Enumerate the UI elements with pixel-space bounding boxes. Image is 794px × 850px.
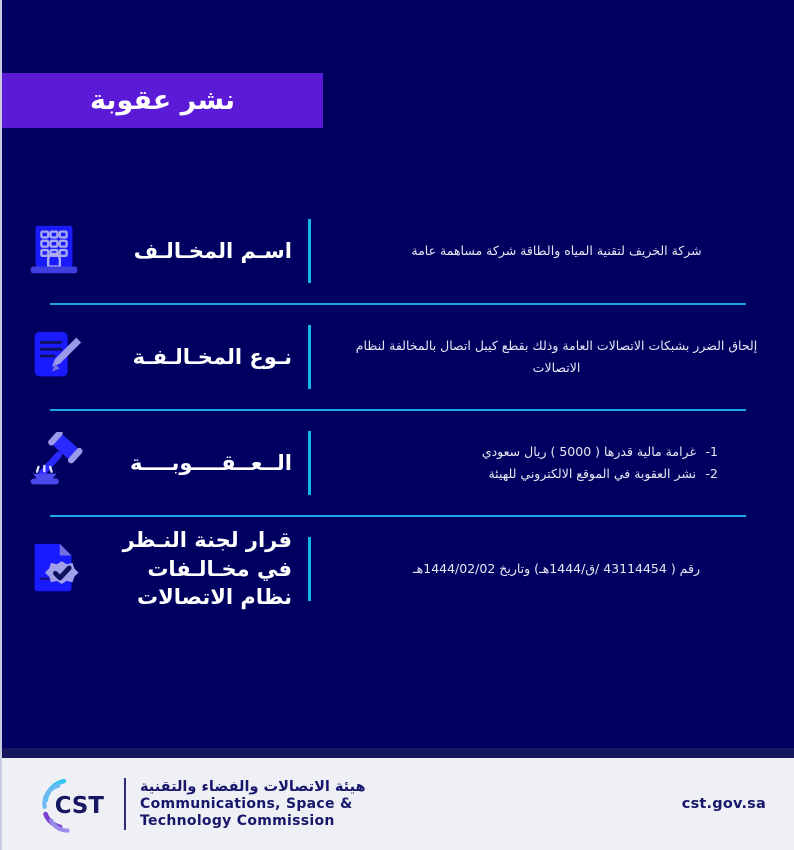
list-item: 1-غرامة مالية قدرها ( 5000 ) ريال سعودي (337, 441, 718, 464)
list-item-text: غرامة مالية قدرها ( 5000 ) ريال سعودي (482, 444, 696, 459)
footer-org-english-line2: Technology Commission (140, 813, 366, 829)
row-label-violator-name: اسـم المخـالـف (106, 237, 296, 265)
row-penalty: الــعــقــــوبــــة 1-غرامة مالية قدرها … (2, 417, 794, 509)
row-value-penalty: 1-غرامة مالية قدرها ( 5000 ) ريال سعودي … (319, 441, 794, 486)
list-item: 2-نشر العقوبة في الموقع الالكتروني للهيئ… (337, 463, 718, 486)
row-violator-name: اسـم المخـالـف شركة الخريف لتقنية المياه… (2, 205, 794, 297)
footer-top-band (2, 748, 794, 758)
list-item-number: 1- (696, 441, 718, 464)
row-divider-bar (308, 219, 311, 283)
section-divider-2 (50, 409, 746, 411)
row-violation-type: نـوع المخـالـفـة إلحاق الضرر بشبكات الات… (2, 311, 794, 403)
row-label-committee-decision: قرار لجنة النـظر في مخـالـفات نظام الاتص… (106, 526, 296, 611)
footer-branding: CST هيئة الاتصالات والفضاء والتقنية Comm… (36, 772, 366, 836)
gavel-icon (2, 432, 106, 494)
cst-logo-icon: CST (36, 772, 110, 836)
row-divider-bar (308, 431, 311, 495)
gavel-icon-svg (23, 432, 85, 494)
footer: CST هيئة الاتصالات والفضاء والتقنية Comm… (2, 758, 794, 850)
document-pen-icon-svg (23, 326, 85, 388)
content-rows: اسـم المخـالـف شركة الخريف لتقنية المياه… (2, 205, 794, 615)
row-value-committee-decision: رقم ( 43114454 /ق/1444هـ) وتاريخ 1444/02… (319, 558, 794, 580)
row-divider-bar (308, 325, 311, 389)
footer-org-english-line1: Communications, Space & (140, 796, 366, 812)
row-committee-decision: قرار لجنة النـظر في مخـالـفات نظام الاتص… (2, 523, 794, 615)
svg-text:CST: CST (55, 793, 105, 819)
building-icon-svg (23, 220, 85, 282)
row-value-violation-type: إلحاق الضرر بشبكات الاتصالات العامة وذلك… (319, 335, 794, 379)
list-item-number: 2- (696, 463, 718, 486)
decision-check-icon (2, 538, 106, 600)
decision-check-icon-svg (23, 538, 85, 600)
document-pen-icon (2, 326, 106, 388)
row-label-penalty: الــعــقــــوبــــة (106, 449, 296, 477)
section-divider-3 (50, 515, 746, 517)
footer-website-url[interactable]: cst.gov.sa (682, 796, 766, 812)
section-divider-1 (50, 303, 746, 305)
list-item-text: نشر العقوبة في الموقع الالكتروني للهيئة (488, 466, 696, 481)
header-banner: نشر عقوبة (2, 73, 323, 128)
footer-org-arabic: هيئة الاتصالات والفضاء والتقنية (140, 779, 366, 795)
building-icon (2, 220, 106, 282)
penalty-publication-page: نشر عقوبة (0, 0, 794, 850)
footer-separator (124, 778, 126, 830)
page-title: نشر عقوبة (90, 85, 235, 116)
footer-org-text: هيئة الاتصالات والفضاء والتقنية Communic… (140, 779, 366, 829)
row-label-violation-type: نـوع المخـالـفـة (106, 343, 296, 371)
row-value-violator-name: شركة الخريف لتقنية المياه والطاقة شركة م… (319, 240, 794, 262)
penalty-list: 1-غرامة مالية قدرها ( 5000 ) ريال سعودي … (337, 441, 776, 486)
row-divider-bar (308, 537, 311, 601)
